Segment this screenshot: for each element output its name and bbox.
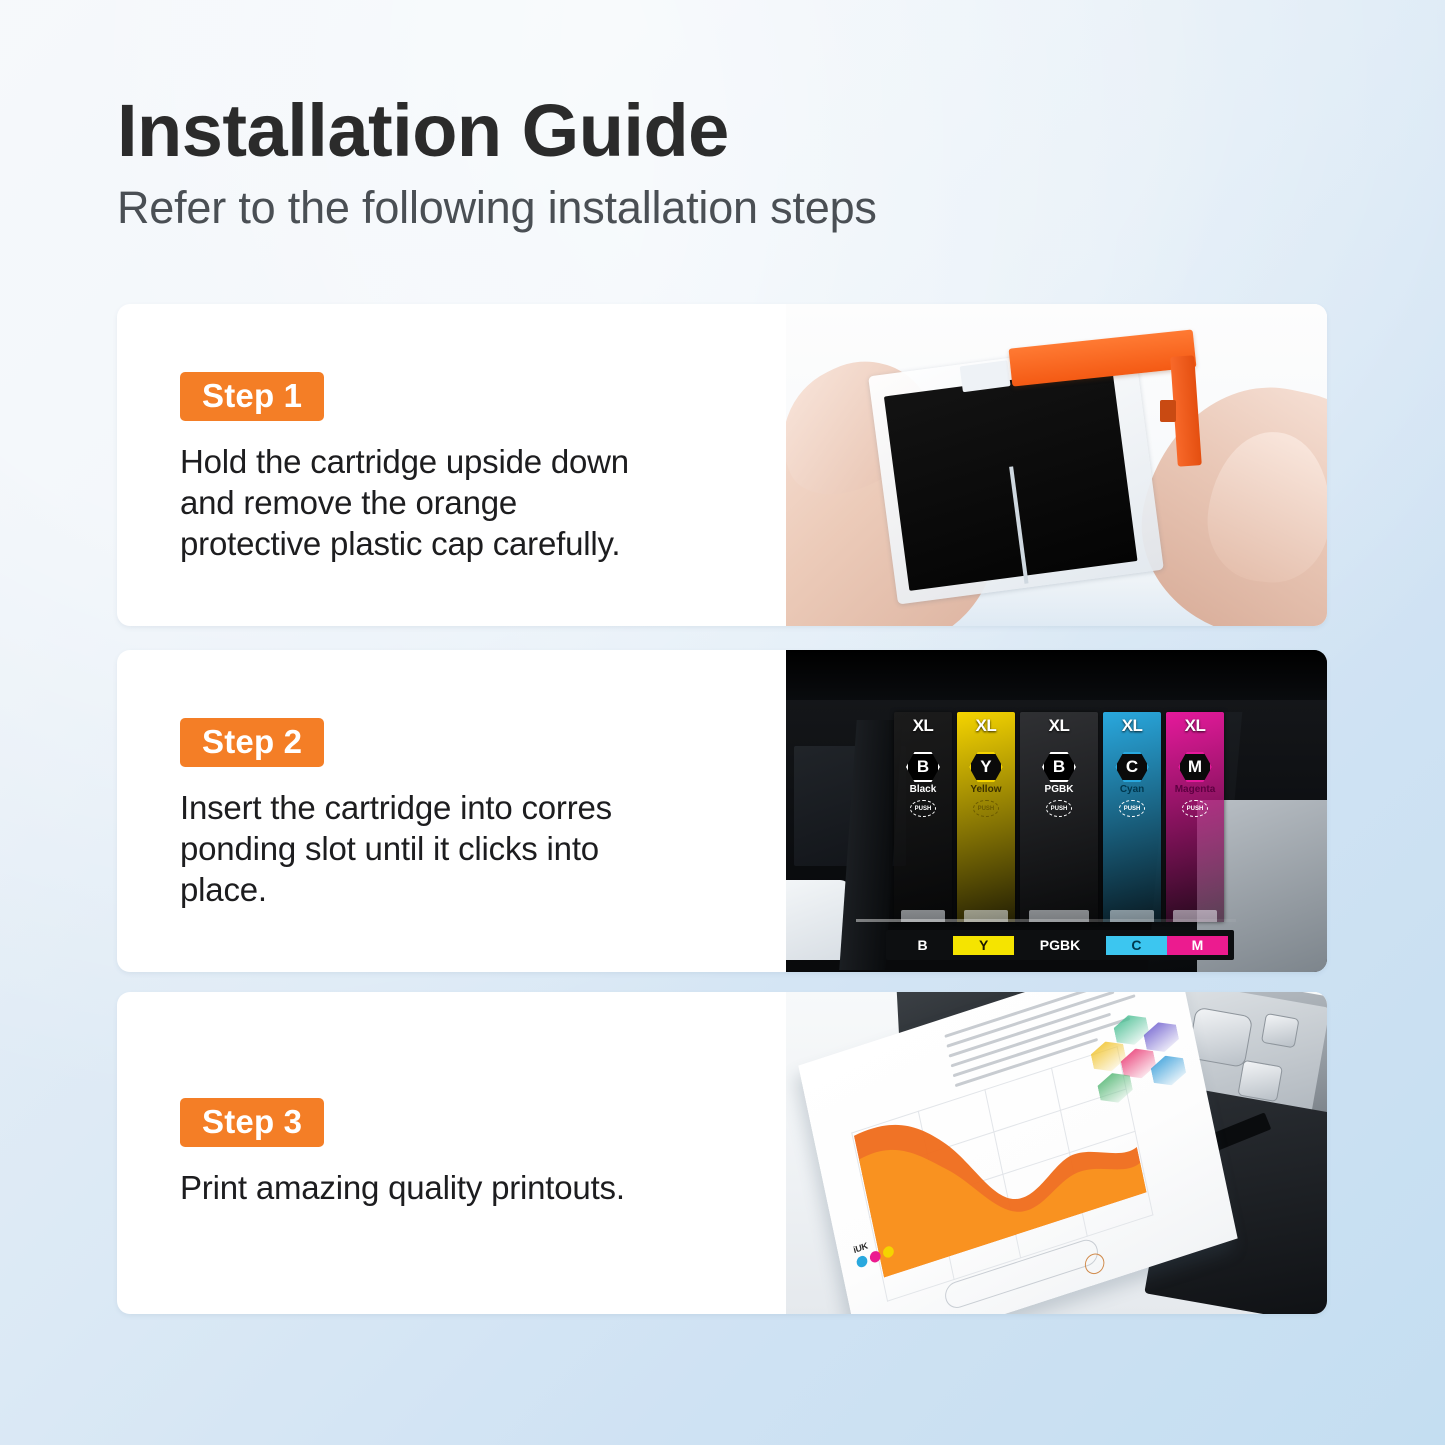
cartridge-colour-mark: C — [1115, 752, 1149, 782]
cartridge-push-mark: PUSH — [1046, 800, 1072, 817]
slot-label-pgbk: PGBK — [1014, 936, 1106, 955]
cartridge-black: XLBBlackPUSH — [894, 712, 952, 922]
cartridge-row: XLBBlackPUSHXLYYellowPUSHXLBPGBKPUSHXLCC… — [894, 712, 1224, 922]
step-3-image: iUK — [786, 992, 1327, 1314]
panel-button-scan — [1237, 1060, 1283, 1102]
cartridge-cyan: XLCCyanPUSH — [1103, 712, 1161, 922]
page-title: Installation Guide — [117, 92, 1217, 170]
slot-color-strip: BYPGBKCM — [886, 930, 1234, 960]
cartridge-colour-name: PGBK — [1045, 784, 1074, 795]
carriage-rail-highlight — [856, 919, 1236, 922]
printed-page-output-photo: iUK — [786, 992, 1327, 1314]
cartridge-cap-removal-photo — [786, 304, 1327, 626]
cartridge-colour-mark: B — [1042, 752, 1076, 782]
step-2-body: Insert the cartridge into corres ponding… — [180, 788, 742, 911]
colour-cube — [1149, 1051, 1188, 1091]
orange-cap-hook — [1160, 400, 1176, 422]
slot-label-c: C — [1106, 936, 1167, 955]
cartridge-colour-name: Cyan — [1120, 784, 1144, 795]
step-1-text-block: Step 1 Hold the cartridge upside down an… — [117, 304, 786, 626]
cartridge-colour-mark: B — [906, 752, 940, 782]
step-1-badge: Step 1 — [180, 372, 324, 421]
logo-dot — [882, 1245, 895, 1259]
cartridge-size-label: XL — [1049, 716, 1070, 736]
cartridge-size-label: XL — [1185, 716, 1206, 736]
cartridge-colour-mark: Y — [969, 752, 1003, 782]
installation-guide-page: Installation Guide Refer to the followin… — [0, 0, 1445, 1445]
step-card-1: Step 1 Hold the cartridge upside down an… — [117, 304, 1327, 626]
cartridge-slot-insertion-photo: XLBBlackPUSHXLYYellowPUSHXLBPGBKPUSHXLCC… — [786, 650, 1327, 972]
cartridge-push-mark: PUSH — [973, 800, 999, 817]
step-3-body: Print amazing quality printouts. — [180, 1168, 742, 1209]
cartridge-push-mark: PUSH — [1182, 800, 1208, 817]
page-subtitle: Refer to the following installation step… — [117, 182, 1217, 234]
slot-label-y: Y — [953, 936, 1014, 955]
cartridge-size-label: XL — [1122, 716, 1143, 736]
step-1-image — [786, 304, 1327, 626]
step-1-body: Hold the cartridge upside down and remov… — [180, 442, 742, 565]
cartridge-colour-name: Yellow — [970, 784, 1001, 795]
cartridge-size-label: XL — [976, 716, 997, 736]
step-card-3: Step 3 Print amazing quality printouts. — [117, 992, 1327, 1314]
step-2-text-block: Step 2 Insert the cartridge into corres … — [117, 650, 786, 972]
cartridge-magenta: XLMMagentaPUSH — [1166, 712, 1224, 922]
cartridge-push-mark: PUSH — [910, 800, 936, 817]
cartridge-size-label: XL — [913, 716, 934, 736]
cartridge-pgbk: XLBPGBKPUSH — [1020, 712, 1098, 922]
cartridge-colour-mark: M — [1178, 752, 1212, 782]
cartridge-colour-name: Magenta — [1175, 784, 1216, 795]
panel-button-power — [1261, 1013, 1300, 1048]
step-3-text-block: Step 3 Print amazing quality printouts. — [117, 992, 786, 1314]
step-card-2: Step 2 Insert the cartridge into corres … — [117, 650, 1327, 972]
step-3-badge: Step 3 — [180, 1098, 324, 1147]
cartridge-push-mark: PUSH — [1119, 800, 1145, 817]
slot-label-b: B — [892, 936, 953, 955]
logo-dot — [869, 1250, 882, 1264]
logo-dot — [856, 1254, 869, 1268]
slot-label-m: M — [1167, 936, 1228, 955]
cartridge-yellow: XLYYellowPUSH — [957, 712, 1015, 922]
guide-header: Installation Guide Refer to the followin… — [117, 92, 1217, 233]
step-2-badge: Step 2 — [180, 718, 324, 767]
cartridge-colour-name: Black — [910, 784, 937, 795]
step-2-image: XLBBlackPUSHXLYYellowPUSHXLBPGBKPUSHXLCC… — [786, 650, 1327, 972]
